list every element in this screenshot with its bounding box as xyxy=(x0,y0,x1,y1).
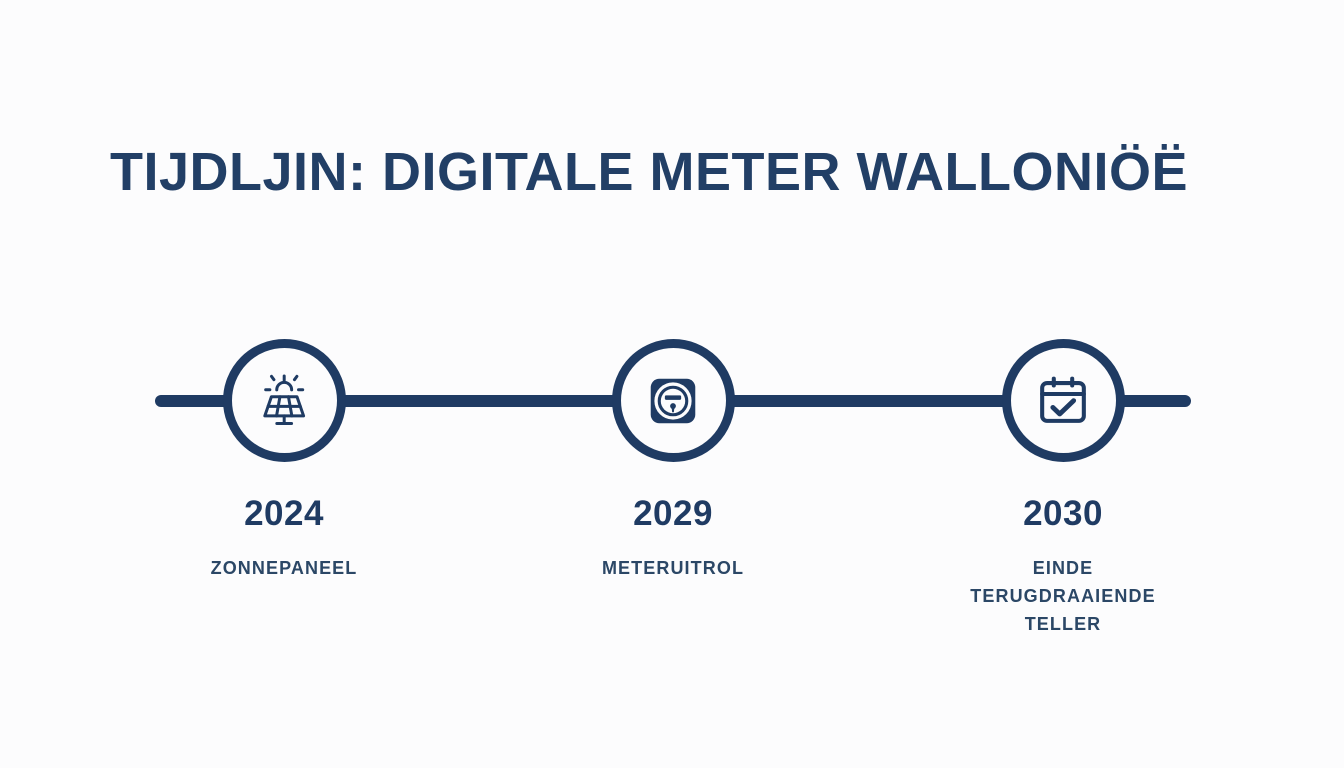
milestone-year: 2030 xyxy=(933,496,1193,531)
caption-line: TERUGDRAAIENDE xyxy=(933,583,1193,611)
milestone-caption: METERUITROL xyxy=(543,555,803,583)
milestone-caption: ZONNEPANEEL xyxy=(154,555,414,583)
caption-line: METERUITROL xyxy=(543,555,803,583)
milestone-caption: EINDE TERUGDRAAIENDE TELLER xyxy=(933,555,1193,639)
timeline-infographic: TIJDLJIN: DIGITALE METER WALLONIÖË xyxy=(0,0,1344,768)
timeline-milestone[interactable]: 2029 METERUITROL xyxy=(543,339,803,583)
milestone-year: 2024 xyxy=(154,496,414,531)
caption-line: ZONNEPANEEL xyxy=(154,555,414,583)
milestone-node-circle[interactable] xyxy=(223,339,346,462)
milestone-year: 2029 xyxy=(543,496,803,531)
timeline-milestone[interactable]: 2024 ZONNEPANEEL xyxy=(154,339,414,583)
caption-line: EINDE xyxy=(933,555,1193,583)
milestone-node-circle[interactable] xyxy=(612,339,735,462)
solar-panel-icon xyxy=(253,370,315,432)
caption-line: TELLER xyxy=(933,611,1193,639)
page-title: TIJDLJIN: DIGITALE METER WALLONIÖË xyxy=(110,141,1240,203)
calendar-check-icon xyxy=(1032,370,1094,432)
digital-meter-icon xyxy=(642,370,704,432)
milestone-node-circle[interactable] xyxy=(1002,339,1125,462)
timeline-milestone[interactable]: 2030 EINDE TERUGDRAAIENDE TELLER xyxy=(933,339,1193,639)
